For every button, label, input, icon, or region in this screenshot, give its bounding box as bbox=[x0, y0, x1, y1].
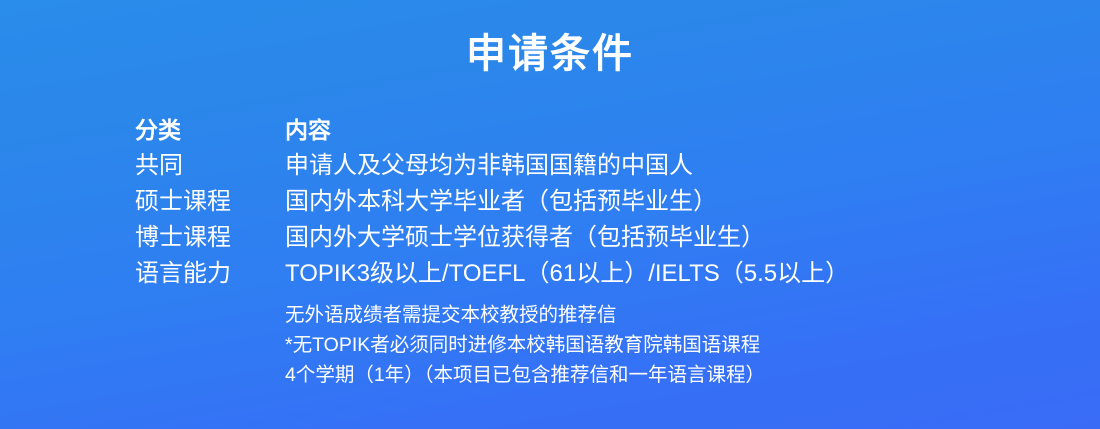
note-line: 4个学期（1年）（本项目已包含推荐信和一年语言课程） bbox=[285, 360, 1085, 390]
row-content-doctoral: 国内外大学硕士学位获得者（包括预毕业生） bbox=[285, 220, 1035, 256]
table-row: 语言能力 TOPIK3级以上/TOEFL（61以上）/IELTS（5.5以上） bbox=[135, 256, 1035, 292]
row-category-masters: 硕士课程 bbox=[135, 184, 285, 220]
table-header-row: 分类 内容 bbox=[135, 112, 1035, 148]
table-row: 共同 申请人及父母均为非韩国国籍的中国人 bbox=[135, 148, 1035, 184]
row-content-common: 申请人及父母均为非韩国国籍的中国人 bbox=[285, 148, 1035, 184]
slide-root: 申请条件 分类 内容 共同 申请人及父母均为非韩国国籍的中国人 硕士课程 国内外… bbox=[0, 0, 1100, 429]
page-title: 申请条件 bbox=[0, 32, 1100, 76]
row-category-language: 语言能力 bbox=[135, 256, 285, 292]
language-notes: 无外语成绩者需提交本校教授的推荐信 *无TOPIK者必须同时进修本校韩国语教育院… bbox=[285, 300, 1085, 390]
requirements-table: 分类 内容 共同 申请人及父母均为非韩国国籍的中国人 硕士课程 国内外本科大学毕… bbox=[135, 112, 1035, 292]
note-line: *无TOPIK者必须同时进修本校韩国语教育院韩国语课程 bbox=[285, 330, 1085, 360]
row-content-language: TOPIK3级以上/TOEFL（61以上）/IELTS（5.5以上） bbox=[285, 256, 1035, 292]
row-content-masters: 国内外本科大学毕业者（包括预毕业生） bbox=[285, 184, 1035, 220]
note-line: 无外语成绩者需提交本校教授的推荐信 bbox=[285, 300, 1085, 330]
column-header-content: 内容 bbox=[285, 112, 1035, 148]
table-row: 硕士课程 国内外本科大学毕业者（包括预毕业生） bbox=[135, 184, 1035, 220]
column-header-category: 分类 bbox=[135, 112, 285, 148]
row-category-doctoral: 博士课程 bbox=[135, 220, 285, 256]
row-category-common: 共同 bbox=[135, 148, 285, 184]
table-row: 博士课程 国内外大学硕士学位获得者（包括预毕业生） bbox=[135, 220, 1035, 256]
